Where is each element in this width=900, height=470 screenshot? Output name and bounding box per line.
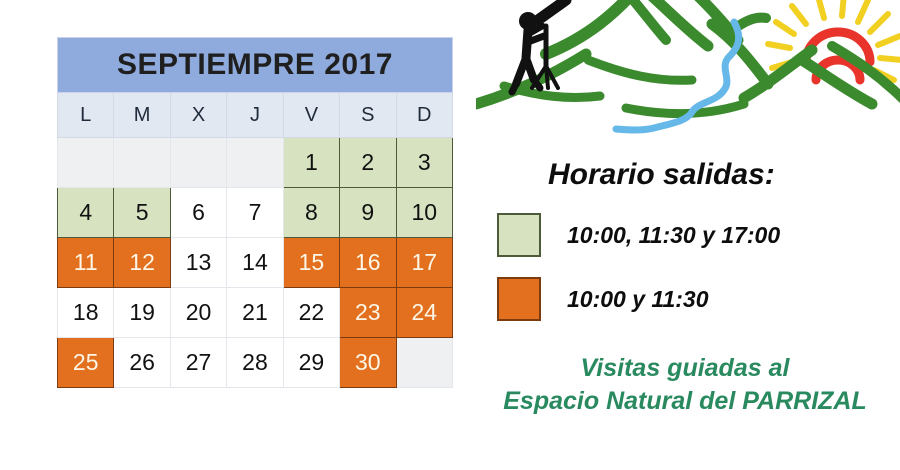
calendar-week-row: 252627282930 [58, 338, 453, 388]
calendar-day-18[interactable]: 18 [58, 288, 114, 338]
calendar-day-23[interactable]: 23 [340, 288, 396, 338]
calendar-day-24[interactable]: 24 [396, 288, 452, 338]
calendar-panel: SEPTIEMPRE 2017 LMXJVSD 1234567891011121… [57, 37, 453, 388]
legend-swatch-green [497, 213, 541, 257]
calendar-day-19[interactable]: 19 [114, 288, 170, 338]
calendar-day-25[interactable]: 25 [58, 338, 114, 388]
calendar-day-1[interactable]: 1 [283, 138, 339, 188]
legend-label-orange: 10:00 y 11:30 [567, 286, 709, 313]
tagline-line-1: Visitas guiadas al [470, 352, 900, 385]
calendar-day-8[interactable]: 8 [283, 188, 339, 238]
calendar-day-6[interactable]: 6 [170, 188, 226, 238]
calendar-week-row: 123 [58, 138, 453, 188]
calendar-day-21[interactable]: 21 [227, 288, 283, 338]
calendar-body: 1234567891011121314151617181920212223242… [58, 138, 453, 388]
calendar-day-13[interactable]: 13 [170, 238, 226, 288]
calendar-weekday-d: D [396, 93, 452, 138]
calendar-day-15[interactable]: 15 [283, 238, 339, 288]
calendar-day-22[interactable]: 22 [283, 288, 339, 338]
calendar-weekday-v: V [283, 93, 339, 138]
calendar-day-27[interactable]: 27 [170, 338, 226, 388]
schedule-heading: Horario salidas: [548, 158, 775, 192]
legend-swatch-orange [497, 277, 541, 321]
calendar-title: SEPTIEMPRE 2017 [58, 38, 453, 93]
calendar-weekday-m: M [114, 93, 170, 138]
calendar-day-11[interactable]: 11 [58, 238, 114, 288]
calendar-day-30[interactable]: 30 [340, 338, 396, 388]
calendar-weekday-l: L [58, 93, 114, 138]
calendar-day-29[interactable]: 29 [283, 338, 339, 388]
calendar-week-row: 45678910 [58, 188, 453, 238]
calendar-table: SEPTIEMPRE 2017 LMXJVSD 1234567891011121… [57, 37, 453, 388]
legend-item-orange: 10:00 y 11:30 [497, 277, 709, 321]
calendar-day-7[interactable]: 7 [227, 188, 283, 238]
legend-label-green: 10:00, 11:30 y 17:00 [567, 222, 780, 249]
calendar-day-3[interactable]: 3 [396, 138, 452, 188]
calendar-weekday-x: X [170, 93, 226, 138]
calendar-day-9[interactable]: 9 [340, 188, 396, 238]
calendar-weekday-j: J [227, 93, 283, 138]
calendar-day-28[interactable]: 28 [227, 338, 283, 388]
tagline-line-2: Espacio Natural del PARRIZAL [470, 385, 900, 418]
calendar-weekday-s: S [340, 93, 396, 138]
calendar-day-empty [114, 138, 170, 188]
calendar-day-16[interactable]: 16 [340, 238, 396, 288]
calendar-day-2[interactable]: 2 [340, 138, 396, 188]
calendar-day-4[interactable]: 4 [58, 188, 114, 238]
calendar-day-26[interactable]: 26 [114, 338, 170, 388]
calendar-weekday-row: LMXJVSD [58, 93, 453, 138]
calendar-day-14[interactable]: 14 [227, 238, 283, 288]
calendar-day-17[interactable]: 17 [396, 238, 452, 288]
calendar-week-row: 18192021222324 [58, 288, 453, 338]
calendar-day-5[interactable]: 5 [114, 188, 170, 238]
calendar-day-empty [227, 138, 283, 188]
parrizal-nature-logo [476, 0, 900, 148]
calendar-day-empty [396, 338, 452, 388]
calendar-day-12[interactable]: 12 [114, 238, 170, 288]
legend-item-green: 10:00, 11:30 y 17:00 [497, 213, 780, 257]
calendar-day-empty [170, 138, 226, 188]
tagline: Visitas guiadas al Espacio Natural del P… [470, 352, 900, 418]
calendar-day-10[interactable]: 10 [396, 188, 452, 238]
calendar-day-empty [58, 138, 114, 188]
calendar-day-20[interactable]: 20 [170, 288, 226, 338]
calendar-week-row: 11121314151617 [58, 238, 453, 288]
calendar-title-row: SEPTIEMPRE 2017 [58, 38, 453, 93]
